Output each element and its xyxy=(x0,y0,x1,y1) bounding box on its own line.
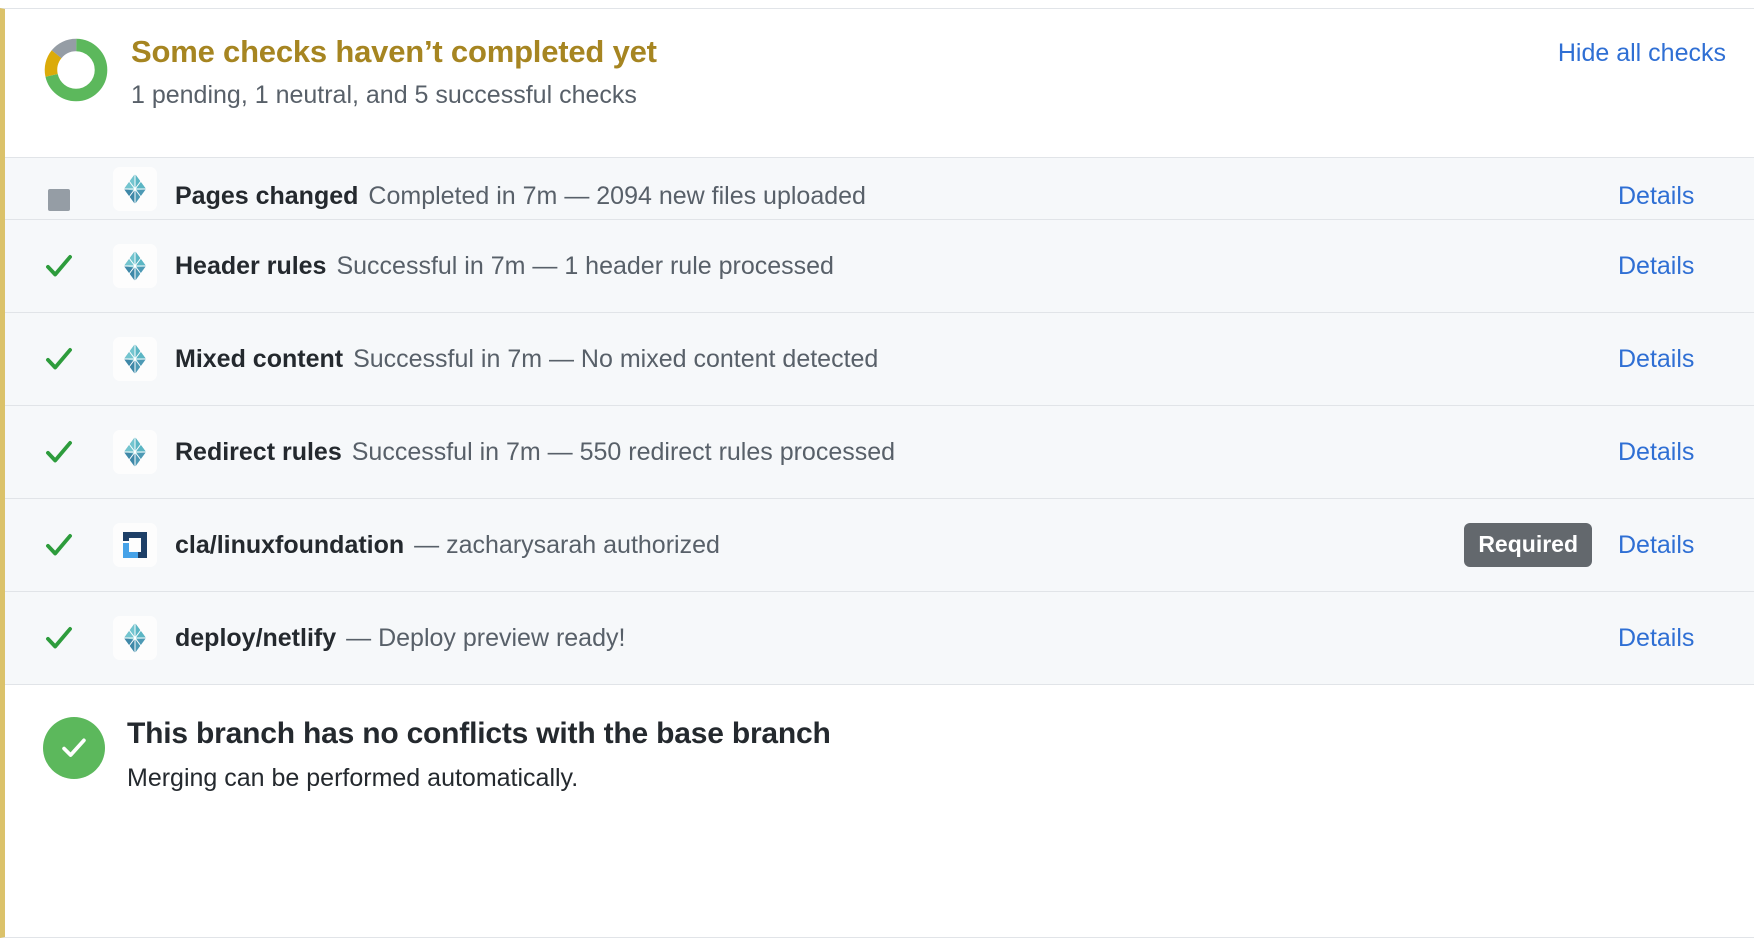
check-status-cell xyxy=(5,435,113,469)
check-details-link[interactable]: Details xyxy=(1618,345,1726,374)
green-check-icon xyxy=(42,621,76,655)
check-name: Header rules xyxy=(175,252,326,281)
check-actions: Details xyxy=(1618,345,1726,374)
check-avatar-cell xyxy=(113,523,175,567)
merge-box: Some checks haven’t completed yet 1 pend… xyxy=(0,8,1754,938)
check-avatar-cell xyxy=(113,616,175,660)
merge-status-text: This branch has no conflicts with the ba… xyxy=(127,715,1726,794)
check-details-link[interactable]: Details xyxy=(1618,624,1726,653)
merge-status-title: This branch has no conflicts with the ba… xyxy=(127,715,1726,753)
gray-square-icon xyxy=(48,189,70,211)
green-check-icon xyxy=(42,249,76,283)
check-actions: Required Details xyxy=(1464,523,1726,567)
check-status-cell xyxy=(5,342,113,376)
table-row[interactable]: Redirect rules Successful in 7m — 550 re… xyxy=(5,406,1754,499)
check-details-link[interactable]: Details xyxy=(1618,182,1726,211)
table-row[interactable]: deploy/netlify — Deploy preview ready! D… xyxy=(5,592,1754,685)
check-description: Successful in 7m — 1 header rule process… xyxy=(336,252,833,281)
check-description: — Deploy preview ready! xyxy=(346,624,625,653)
checks-summary-text: Some checks haven’t completed yet 1 pend… xyxy=(131,31,1558,111)
check-text: Header rules Successful in 7m — 1 header… xyxy=(175,252,1618,281)
check-name: Pages changed xyxy=(175,182,358,211)
check-status-cell xyxy=(5,249,113,283)
green-check-icon xyxy=(42,435,76,469)
table-row[interactable]: cla/linuxfoundation — zacharysarah autho… xyxy=(5,499,1754,592)
table-row[interactable]: Pages changed Completed in 7m — 2094 new… xyxy=(5,158,1754,220)
check-actions: Details xyxy=(1618,624,1726,653)
status-badge: Required xyxy=(1464,523,1592,567)
checks-summary-subtitle: 1 pending, 1 neutral, and 5 successful c… xyxy=(131,80,1558,111)
check-details-link[interactable]: Details xyxy=(1618,531,1726,560)
check-text: Mixed content Successful in 7m — No mixe… xyxy=(175,345,1618,374)
table-row[interactable]: Header rules Successful in 7m — 1 header… xyxy=(5,220,1754,313)
netlify-diamond-icon xyxy=(113,167,157,211)
netlify-diamond-icon xyxy=(113,244,157,288)
check-name: Redirect rules xyxy=(175,438,342,467)
netlify-diamond-icon xyxy=(113,616,157,660)
check-status-cell xyxy=(5,189,113,211)
check-description: Successful in 7m — No mixed content dete… xyxy=(353,345,878,374)
check-actions: Details xyxy=(1618,182,1726,211)
checks-status-donut-chart xyxy=(43,37,109,103)
check-name: deploy/netlify xyxy=(175,624,336,653)
check-avatar-cell xyxy=(113,430,175,474)
green-check-icon xyxy=(42,528,76,562)
pull-request-checks-panel: Some checks haven’t completed yet 1 pend… xyxy=(0,0,1754,946)
check-text: Pages changed Completed in 7m — 2094 new… xyxy=(175,182,1618,211)
check-status-cell xyxy=(5,621,113,655)
white-check-in-green-circle-icon xyxy=(43,717,105,779)
green-check-icon xyxy=(42,342,76,376)
check-text: Redirect rules Successful in 7m — 550 re… xyxy=(175,438,1618,467)
check-description: — zacharysarah authorized xyxy=(414,531,720,560)
checks-summary-title: Some checks haven’t completed yet xyxy=(131,33,1558,70)
checks-summary-header: Some checks haven’t completed yet 1 pend… xyxy=(5,9,1754,157)
merge-conflict-status: This branch has no conflicts with the ba… xyxy=(5,685,1754,828)
check-actions: Details xyxy=(1618,438,1726,467)
netlify-diamond-icon xyxy=(113,430,157,474)
linux-foundation-icon xyxy=(113,523,157,567)
merge-status-subtitle: Merging can be performed automatically. xyxy=(127,763,1726,794)
check-details-link[interactable]: Details xyxy=(1618,438,1726,467)
check-actions: Details xyxy=(1618,252,1726,281)
netlify-diamond-icon xyxy=(113,337,157,381)
check-avatar-cell xyxy=(113,167,175,211)
donut-svg xyxy=(43,37,109,103)
hide-all-checks-link[interactable]: Hide all checks xyxy=(1558,31,1726,68)
check-text: deploy/netlify — Deploy preview ready! xyxy=(175,624,1618,653)
check-description: Completed in 7m — 2094 new files uploade… xyxy=(368,182,866,211)
check-name: cla/linuxfoundation xyxy=(175,531,404,560)
check-details-link[interactable]: Details xyxy=(1618,252,1726,281)
check-avatar-cell xyxy=(113,244,175,288)
check-description: Successful in 7m — 550 redirect rules pr… xyxy=(352,438,895,467)
table-row[interactable]: Mixed content Successful in 7m — No mixe… xyxy=(5,313,1754,406)
checks-list: Pages changed Completed in 7m — 2094 new… xyxy=(5,157,1754,685)
check-text: cla/linuxfoundation — zacharysarah autho… xyxy=(175,531,1464,560)
check-avatar-cell xyxy=(113,337,175,381)
check-name: Mixed content xyxy=(175,345,343,374)
check-glyph xyxy=(57,731,91,765)
check-status-cell xyxy=(5,528,113,562)
